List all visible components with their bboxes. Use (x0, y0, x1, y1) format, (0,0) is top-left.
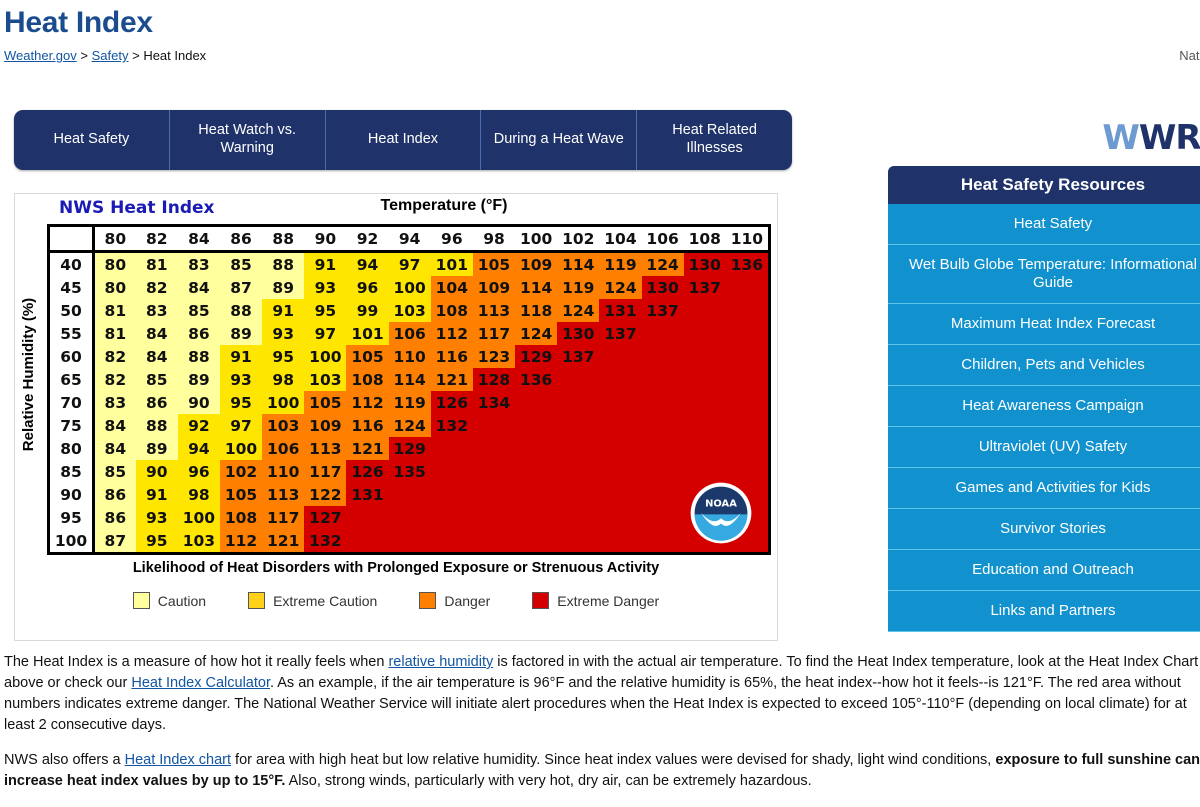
heat-index-cell: 112 (220, 529, 262, 552)
inline-link[interactable]: relative humidity (388, 654, 493, 670)
table-row: 90869198105113122131 (50, 483, 768, 506)
heat-index-cell (599, 368, 641, 391)
heat-index-cell: 89 (136, 437, 178, 460)
heat-index-cell: 126 (346, 460, 388, 483)
legend-label: Caution (158, 593, 206, 609)
heat-index-cell: 106 (389, 322, 431, 345)
heat-index-cell (515, 391, 557, 414)
heat-index-cell: 87 (220, 276, 262, 299)
svg-text:NOAA: NOAA (705, 498, 737, 509)
heat-index-cell (684, 345, 726, 368)
breadcrumb-link[interactable]: Safety (92, 48, 129, 63)
heat-index-cell: 131 (599, 299, 641, 322)
heat-index-cell: 119 (389, 391, 431, 414)
sidebar-item-maximum-heat-index-forecast[interactable]: Maximum Heat Index Forecast (888, 304, 1200, 345)
heat-index-cell (473, 483, 515, 506)
sidebar-item-heat-awareness-campaign[interactable]: Heat Awareness Campaign (888, 386, 1200, 427)
heat-index-cell: 102 (220, 460, 262, 483)
heat-index-cell (726, 437, 768, 460)
heat-index-cell: 116 (431, 345, 473, 368)
heat-index-cell: 82 (94, 345, 136, 368)
breadcrumb-link[interactable]: Weather.gov (4, 48, 77, 63)
heat-index-cell: 137 (642, 299, 684, 322)
chart-x-axis-label: Temperature (°F) (15, 197, 777, 215)
heat-index-cell: 113 (473, 299, 515, 322)
header-row: 80828486889092949698100102104106108110 (50, 227, 768, 252)
sidebar-item-games-and-activities-for-kids[interactable]: Games and Activities for Kids (888, 468, 1200, 509)
heat-index-cell (473, 529, 515, 552)
legend-label: Extreme Danger (557, 593, 659, 609)
body-text: The Heat Index is a measure of how hot i… (4, 654, 388, 670)
heat-index-cell: 84 (94, 414, 136, 437)
heat-index-cell (642, 460, 684, 483)
heat-index-cell: 105 (346, 345, 388, 368)
heat-index-cell: 117 (304, 460, 346, 483)
temperature-header-86: 86 (220, 227, 262, 252)
heat-index-cell: 93 (304, 276, 346, 299)
legend-swatch-icon (248, 592, 265, 609)
heat-index-cell: 121 (431, 368, 473, 391)
header-brand-subtitle: National Prog (1179, 48, 1200, 63)
legend-item-extreme-caution: Extreme Caution (248, 592, 377, 609)
table-body: 4080818385889194971011051091141191241301… (50, 252, 768, 553)
temperature-header-80: 80 (94, 227, 136, 252)
heat-index-cell: 134 (473, 391, 515, 414)
heat-index-cell: 98 (262, 368, 304, 391)
heat-index-cell: 112 (346, 391, 388, 414)
heat-index-cell (346, 529, 388, 552)
heat-index-cell (431, 529, 473, 552)
heat-index-cell: 97 (304, 322, 346, 345)
heat-index-cell: 88 (262, 252, 304, 277)
heat-index-cell: 101 (346, 322, 388, 345)
heat-index-cell: 137 (684, 276, 726, 299)
heat-index-cell (515, 506, 557, 529)
heat-index-cell: 124 (515, 322, 557, 345)
heat-index-cell: 91 (304, 252, 346, 277)
heat-index-cell: 97 (220, 414, 262, 437)
heat-index-cell: 88 (220, 299, 262, 322)
temperature-header-88: 88 (262, 227, 304, 252)
chart-footer-title: Likelihood of Heat Disorders with Prolon… (15, 560, 777, 576)
sidebar-items: Heat SafetyWet Bulb Globe Temperature: I… (888, 204, 1200, 632)
heat-index-cell: 81 (94, 299, 136, 322)
heat-index-cell (599, 529, 641, 552)
temperature-header-100: 100 (515, 227, 557, 252)
legend-swatch-icon (419, 592, 436, 609)
page-title: Heat Index (4, 6, 153, 40)
heat-index-cell: 91 (136, 483, 178, 506)
temperature-header-110: 110 (726, 227, 768, 252)
heat-index-cell (599, 460, 641, 483)
temperature-header-102: 102 (557, 227, 599, 252)
heat-index-cell (473, 437, 515, 460)
table-row: 55818486899397101106112117124130137 (50, 322, 768, 345)
sidebar-item-children-pets-and-vehicles[interactable]: Children, Pets and Vehicles (888, 345, 1200, 386)
temperature-header-94: 94 (389, 227, 431, 252)
heat-index-cell: 137 (599, 322, 641, 345)
heat-index-cell: 129 (389, 437, 431, 460)
heat-index-cell: 84 (94, 437, 136, 460)
heat-index-cell (684, 414, 726, 437)
heat-index-cell: 88 (136, 414, 178, 437)
heat-index-cell: 81 (94, 322, 136, 345)
heat-index-cell: 82 (136, 276, 178, 299)
legend-label: Extreme Caution (273, 593, 377, 609)
heat-index-cell: 121 (262, 529, 304, 552)
heat-index-cell: 91 (220, 345, 262, 368)
heat-index-cell: 113 (304, 437, 346, 460)
temperature-header-92: 92 (346, 227, 388, 252)
wrn-logo: WWRNWRN (1102, 118, 1200, 158)
heat-index-cell: 129 (515, 345, 557, 368)
heat-index-cell (599, 391, 641, 414)
heat-index-cell: 114 (557, 252, 599, 277)
heat-index-cell (431, 460, 473, 483)
heat-index-cell: 96 (346, 276, 388, 299)
heat-index-cell: 100 (389, 276, 431, 299)
heat-index-cell (642, 529, 684, 552)
heat-index-cell: 100 (304, 345, 346, 368)
humidity-header-65: 65 (50, 368, 94, 391)
heat-index-cell (726, 391, 768, 414)
heat-index-cell: 109 (515, 252, 557, 277)
heat-index-cell: 80 (94, 276, 136, 299)
heat-index-cell: 99 (346, 299, 388, 322)
heat-index-cell: 109 (304, 414, 346, 437)
heat-index-cell: 86 (94, 506, 136, 529)
heat-index-cell: 81 (136, 252, 178, 277)
heat-index-cell: 117 (473, 322, 515, 345)
heat-index-cell: 90 (178, 391, 220, 414)
heat-index-cell (726, 368, 768, 391)
heat-index-cell: 136 (726, 252, 768, 277)
heat-index-cell: 135 (389, 460, 431, 483)
heat-index-cell: 82 (94, 368, 136, 391)
heat-index-cell (684, 299, 726, 322)
heat-index-cell: 85 (94, 460, 136, 483)
heat-index-cell: 124 (389, 414, 431, 437)
heat-index-cell: 103 (178, 529, 220, 552)
heat-index-cell: 130 (684, 252, 726, 277)
heat-index-cell: 108 (346, 368, 388, 391)
heat-index-cell: 124 (599, 276, 641, 299)
heat-index-cell: 137 (557, 345, 599, 368)
heat-index-cell: 105 (304, 391, 346, 414)
heat-index-cell: 90 (136, 460, 178, 483)
heat-index-cell (684, 368, 726, 391)
sidebar-item-wet-bulb-globe-temperature-informational-guide[interactable]: Wet Bulb Globe Temperature: Informationa… (888, 245, 1200, 304)
tab-heat-related-illnesses[interactable]: Heat Related Illnesses (637, 110, 792, 170)
heat-index-cell (599, 437, 641, 460)
sidebar-heading: Heat Safety Resources (888, 166, 1200, 204)
table-row: 4580828487899396100104109114119124130137 (50, 276, 768, 299)
temperature-header-98: 98 (473, 227, 515, 252)
breadcrumb-current: Heat Index (143, 48, 206, 63)
breadcrumb-separator: > (132, 48, 140, 63)
heat-index-cell: 103 (389, 299, 431, 322)
heat-index-cell (642, 483, 684, 506)
heat-index-cell: 95 (136, 529, 178, 552)
legend-item-danger: Danger (419, 592, 490, 609)
heat-index-cell (515, 437, 557, 460)
inline-link[interactable]: Heat Index chart (125, 752, 231, 768)
table-row: 4080818385889194971011051091141191241301… (50, 252, 768, 277)
heat-index-cell: 101 (431, 252, 473, 277)
tab-heat-index[interactable]: Heat Index (326, 110, 482, 170)
heat-index-cell (473, 460, 515, 483)
temperature-header-90: 90 (304, 227, 346, 252)
heat-index-cell: 100 (262, 391, 304, 414)
heat-index-cell (642, 506, 684, 529)
heat-index-cell: 89 (178, 368, 220, 391)
table-row: 658285899398103108114121128136 (50, 368, 768, 391)
page-header: Heat Index Weather.gov > Safety > Heat I… (0, 0, 1200, 92)
paragraph-1: The Heat Index is a measure of how hot i… (4, 652, 1200, 736)
legend-item-caution: Caution (133, 592, 206, 609)
heat-index-cell: 96 (178, 460, 220, 483)
heat-index-cell: 85 (136, 368, 178, 391)
heat-index-cell: 94 (178, 437, 220, 460)
heat-index-cell (684, 437, 726, 460)
header-brand-title: Safe (1179, 18, 1200, 45)
heat-index-cell (473, 414, 515, 437)
heat-index-cell: 105 (220, 483, 262, 506)
heat-index-cell (726, 345, 768, 368)
table-row: 85859096102110117126135 (50, 460, 768, 483)
sidebar-item-links-and-partners[interactable]: Links and Partners (888, 591, 1200, 632)
heat-index-cell: 106 (262, 437, 304, 460)
heat-index-cell: 93 (220, 368, 262, 391)
heat-index-cell (557, 368, 599, 391)
heat-index-cell (642, 414, 684, 437)
temperature-header-82: 82 (136, 227, 178, 252)
heat-index-cell (599, 345, 641, 368)
heat-index-cell: 98 (178, 483, 220, 506)
heat-index-cell: 85 (178, 299, 220, 322)
chart-legend: CautionExtreme CautionDangerExtreme Dang… (15, 592, 777, 609)
heat-index-cell: 86 (178, 322, 220, 345)
heat-index-cell (557, 529, 599, 552)
heat-index-cell (599, 506, 641, 529)
heat-index-cell (557, 483, 599, 506)
heat-index-cell: 116 (346, 414, 388, 437)
heat-index-cell: 108 (220, 506, 262, 529)
humidity-header-85: 85 (50, 460, 94, 483)
chart-body: Relative Humidity (%) 808284868890929496… (15, 224, 777, 554)
heat-index-cell (515, 529, 557, 552)
legend-swatch-icon (133, 592, 150, 609)
heat-index-cell: 110 (262, 460, 304, 483)
heat-index-cell (473, 506, 515, 529)
heat-index-cell: 100 (220, 437, 262, 460)
heat-index-cell (389, 506, 431, 529)
heat-index-cell: 91 (262, 299, 304, 322)
tab-bar: Heat SafetyHeat Watch vs. WarningHeat In… (14, 110, 792, 170)
humidity-header-70: 70 (50, 391, 94, 414)
body-text: Also, strong winds, particularly with ve… (285, 773, 811, 789)
humidity-header-100: 100 (50, 529, 94, 552)
humidity-header-95: 95 (50, 506, 94, 529)
heat-index-cell: 86 (94, 483, 136, 506)
heat-safety-resources-sidebar: Heat Safety Resources Heat SafetyWet Bul… (888, 166, 1200, 632)
heat-index-cell: 122 (304, 483, 346, 506)
heat-index-cell: 132 (431, 414, 473, 437)
heat-index-cell (726, 276, 768, 299)
legend-label: Danger (444, 593, 490, 609)
table-corner-cell (50, 227, 94, 252)
heat-index-cell (726, 414, 768, 437)
heat-index-cell: 85 (220, 252, 262, 277)
heat-index-cell (431, 437, 473, 460)
heat-index-cell: 95 (304, 299, 346, 322)
temperature-header-108: 108 (684, 227, 726, 252)
temperature-header-106: 106 (642, 227, 684, 252)
humidity-header-55: 55 (50, 322, 94, 345)
heat-index-cell (515, 483, 557, 506)
heat-index-cell (431, 506, 473, 529)
paragraph-2: NWS also offers a Heat Index chart for a… (4, 750, 1200, 792)
heat-index-cell: 113 (262, 483, 304, 506)
header-branding: Safe National Prog (1179, 18, 1200, 63)
humidity-header-90: 90 (50, 483, 94, 506)
legend-swatch-icon (532, 592, 549, 609)
sidebar-item-education-and-outreach[interactable]: Education and Outreach (888, 550, 1200, 591)
heat-index-cell: 126 (431, 391, 473, 414)
heat-index-cell (557, 506, 599, 529)
body-text: NWS also offers a (4, 752, 125, 768)
heat-index-cell: 94 (346, 252, 388, 277)
heat-index-cell: 92 (178, 414, 220, 437)
heat-index-cell (599, 483, 641, 506)
heat-index-cell (431, 483, 473, 506)
breadcrumb: Weather.gov > Safety > Heat Index (4, 48, 206, 63)
heat-index-cell: 84 (178, 276, 220, 299)
heat-index-cell: 100 (178, 506, 220, 529)
table-head: 80828486889092949698100102104106108110 (50, 227, 768, 252)
sidebar-item-survivor-stories[interactable]: Survivor Stories (888, 509, 1200, 550)
heat-index-cell (642, 391, 684, 414)
sidebar-item-heat-safety[interactable]: Heat Safety (888, 204, 1200, 245)
heat-index-cell: 128 (473, 368, 515, 391)
heat-index-cell: 130 (642, 276, 684, 299)
heat-index-cell (557, 391, 599, 414)
heat-index-cell (515, 460, 557, 483)
heat-index-cell: 103 (262, 414, 304, 437)
legend-item-extreme-danger: Extreme Danger (532, 592, 659, 609)
heat-index-cell (684, 391, 726, 414)
heat-index-cell: 121 (346, 437, 388, 460)
heat-index-cell (726, 299, 768, 322)
heat-index-cell: 89 (262, 276, 304, 299)
heat-index-cell: 86 (136, 391, 178, 414)
heat-index-cell: 83 (94, 391, 136, 414)
heat-index-cell (726, 322, 768, 345)
humidity-header-60: 60 (50, 345, 94, 368)
heat-index-cell (346, 506, 388, 529)
heat-index-cell: 88 (178, 345, 220, 368)
body-text: for area with high heat but low relative… (231, 752, 995, 768)
heat-index-cell (642, 437, 684, 460)
heat-index-cell (599, 414, 641, 437)
heat-index-cell: 110 (389, 345, 431, 368)
humidity-header-45: 45 (50, 276, 94, 299)
heat-index-cell: 109 (473, 276, 515, 299)
heat-index-cell: 127 (304, 506, 346, 529)
tab-heat-safety[interactable]: Heat Safety (14, 110, 170, 170)
temperature-header-104: 104 (599, 227, 641, 252)
heat-index-chart-card: NWS Heat Index Temperature (°F) Relative… (14, 193, 778, 641)
heat-index-cell: 124 (642, 252, 684, 277)
heat-index-cell: 87 (94, 529, 136, 552)
heat-index-cell: 89 (220, 322, 262, 345)
heat-index-cell: 103 (304, 368, 346, 391)
heat-index-cell: 95 (262, 345, 304, 368)
heat-index-cell: 118 (515, 299, 557, 322)
heat-index-cell (557, 437, 599, 460)
humidity-header-40: 40 (50, 252, 94, 277)
chart-y-axis-label: Relative Humidity (%) (16, 224, 42, 524)
table-row: 7083869095100105112119126134 (50, 391, 768, 414)
heat-index-cell: 104 (431, 276, 473, 299)
tab-during-a-heat-wave[interactable]: During a Heat Wave (481, 110, 637, 170)
heat-index-cell: 95 (220, 391, 262, 414)
heat-index-cell (642, 322, 684, 345)
heat-index-cell: 112 (431, 322, 473, 345)
heat-index-cell: 83 (178, 252, 220, 277)
heat-index-cell (389, 529, 431, 552)
noaa-logo-icon: NOAA (688, 480, 754, 546)
humidity-header-75: 75 (50, 414, 94, 437)
table-row: 5081838588919599103108113118124131137 (50, 299, 768, 322)
heat-index-cell: 83 (136, 299, 178, 322)
tab-heat-watch-vs-warning[interactable]: Heat Watch vs. Warning (170, 110, 326, 170)
heat-index-cell: 117 (262, 506, 304, 529)
breadcrumb-separator: > (80, 48, 88, 63)
table-row: 80848994100106113121129 (50, 437, 768, 460)
sidebar-item-ultraviolet-uv-safety[interactable]: Ultraviolet (UV) Safety (888, 427, 1200, 468)
table-row: 958693100108117127 (50, 506, 768, 529)
heat-index-cell (389, 483, 431, 506)
heat-index-grid: 80828486889092949698100102104106108110 4… (47, 224, 771, 555)
heat-index-cell: 80 (94, 252, 136, 277)
heat-index-cell: 136 (515, 368, 557, 391)
heat-index-table: 80828486889092949698100102104106108110 4… (50, 227, 768, 552)
heat-index-cell: 93 (136, 506, 178, 529)
heat-index-cell: 97 (389, 252, 431, 277)
heat-index-cell: 119 (599, 252, 641, 277)
table-row: 1008795103112121132 (50, 529, 768, 552)
heat-index-cell (557, 414, 599, 437)
heat-index-cell (515, 414, 557, 437)
heat-index-cell: 119 (557, 276, 599, 299)
heat-index-cell: 84 (136, 322, 178, 345)
inline-link[interactable]: Heat Index Calculator (131, 675, 270, 691)
heat-index-cell: 114 (389, 368, 431, 391)
heat-index-cell: 123 (473, 345, 515, 368)
heat-index-cell: 93 (262, 322, 304, 345)
table-row: 7584889297103109116124132 (50, 414, 768, 437)
heat-index-cell: 114 (515, 276, 557, 299)
table-row: 608284889195100105110116123129137 (50, 345, 768, 368)
temperature-header-84: 84 (178, 227, 220, 252)
humidity-header-80: 80 (50, 437, 94, 460)
heat-index-cell: 131 (346, 483, 388, 506)
heat-index-cell: 105 (473, 252, 515, 277)
heat-index-cell: 108 (431, 299, 473, 322)
heat-index-cell (642, 345, 684, 368)
heat-index-cell: 130 (557, 322, 599, 345)
